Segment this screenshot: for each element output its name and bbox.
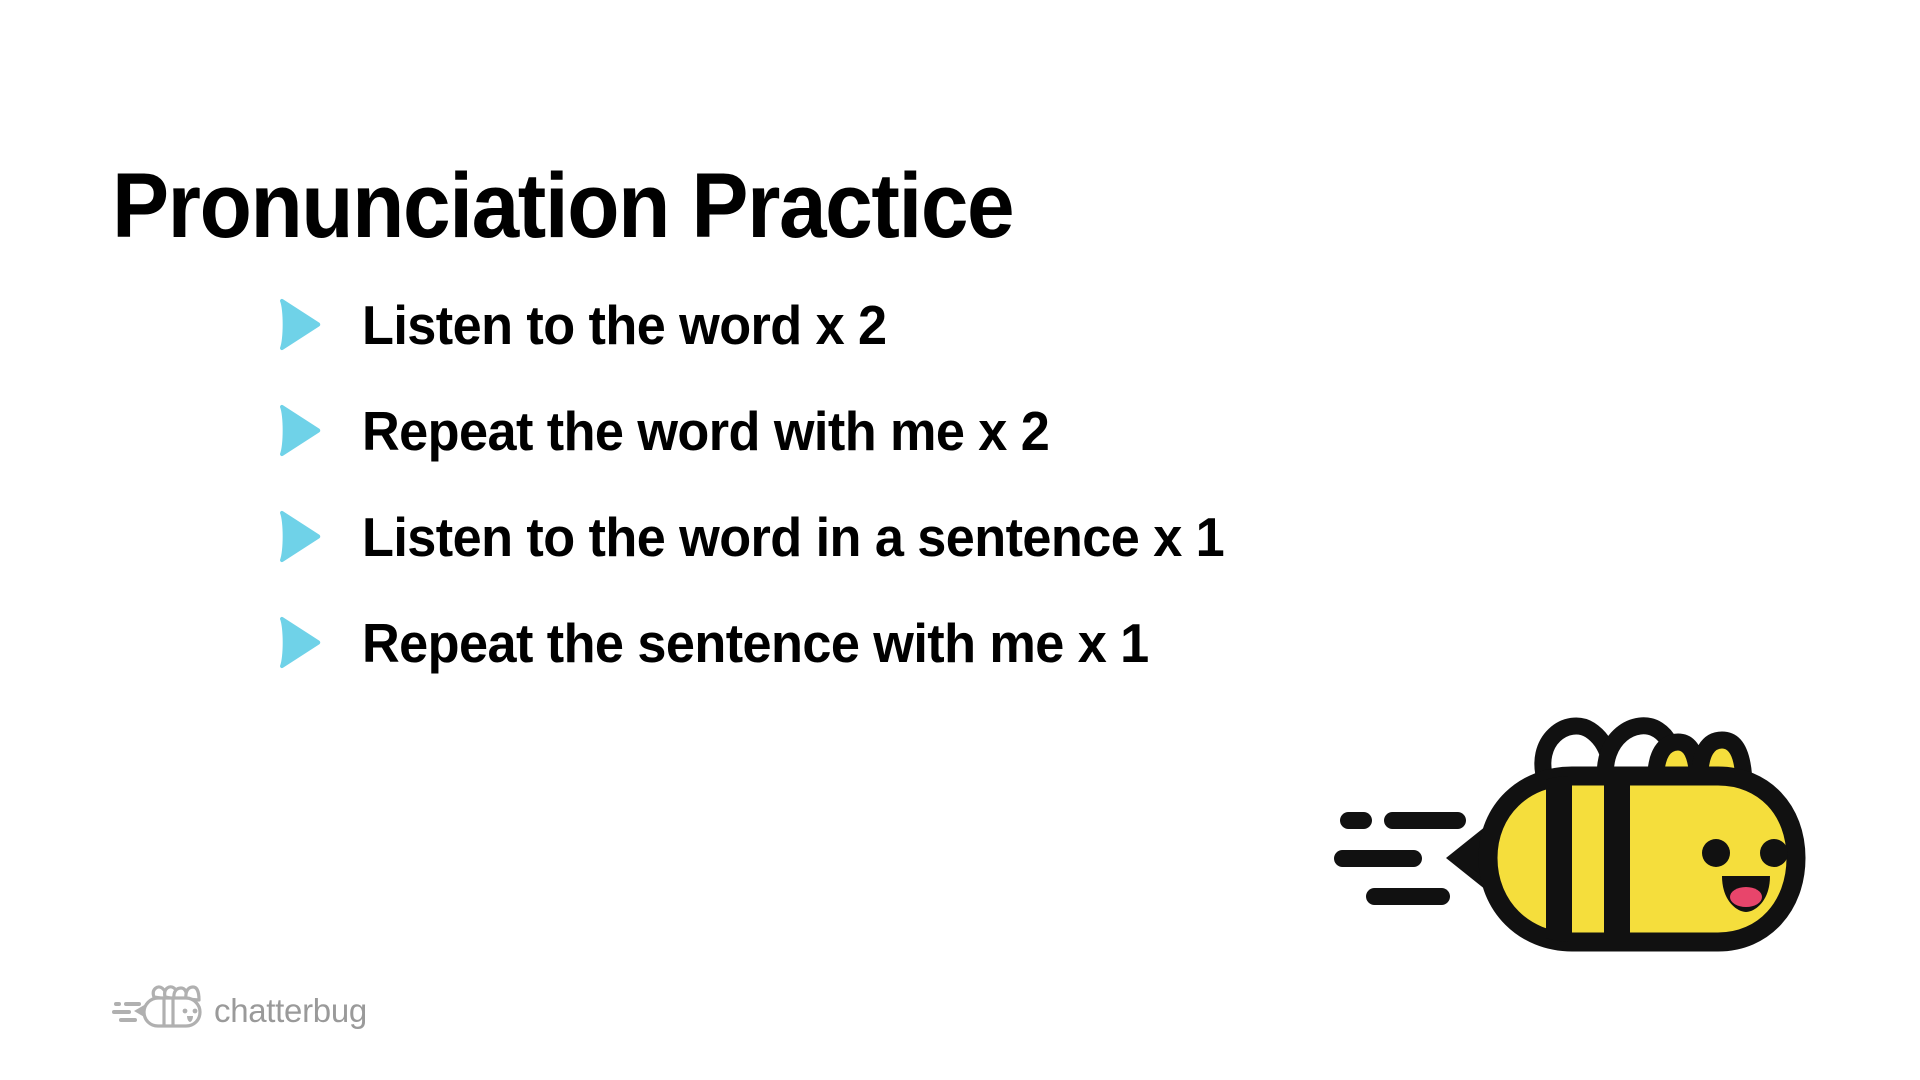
chatterbug-logo: chatterbug bbox=[112, 982, 367, 1038]
slide-canvas: Pronunciation Practice Listen to the wor… bbox=[0, 0, 1920, 1080]
instruction-list: Listen to the word x 2 Repeat the word w… bbox=[276, 272, 1270, 696]
speed-lines-icon bbox=[1334, 812, 1466, 905]
play-triangle-icon bbox=[276, 510, 322, 564]
bee-eye-right bbox=[1760, 839, 1788, 867]
bee-body bbox=[1488, 776, 1796, 942]
play-triangle-icon bbox=[276, 404, 322, 458]
play-triangle-icon bbox=[276, 616, 322, 670]
list-item-label: Listen to the word x 2 bbox=[362, 298, 887, 353]
page-title: Pronunciation Practice bbox=[112, 160, 1013, 252]
chatterbug-bee-icon bbox=[112, 984, 204, 1036]
list-item: Listen to the word x 2 bbox=[276, 272, 1270, 378]
chatterbug-wordmark: chatterbug bbox=[214, 994, 367, 1027]
list-item: Listen to the word in a sentence x 1 bbox=[276, 484, 1270, 590]
list-item-label: Repeat the sentence with me x 1 bbox=[362, 616, 1149, 671]
list-item-label: Listen to the word in a sentence x 1 bbox=[362, 510, 1224, 565]
list-item: Repeat the sentence with me x 1 bbox=[276, 590, 1270, 696]
list-item: Repeat the word with me x 2 bbox=[276, 378, 1270, 484]
bee-tongue bbox=[1730, 887, 1762, 907]
play-triangle-icon bbox=[276, 298, 322, 352]
bee-eye-left bbox=[1702, 839, 1730, 867]
flying-bee-mascot bbox=[1318, 690, 1818, 1010]
list-item-label: Repeat the word with me x 2 bbox=[362, 404, 1049, 459]
